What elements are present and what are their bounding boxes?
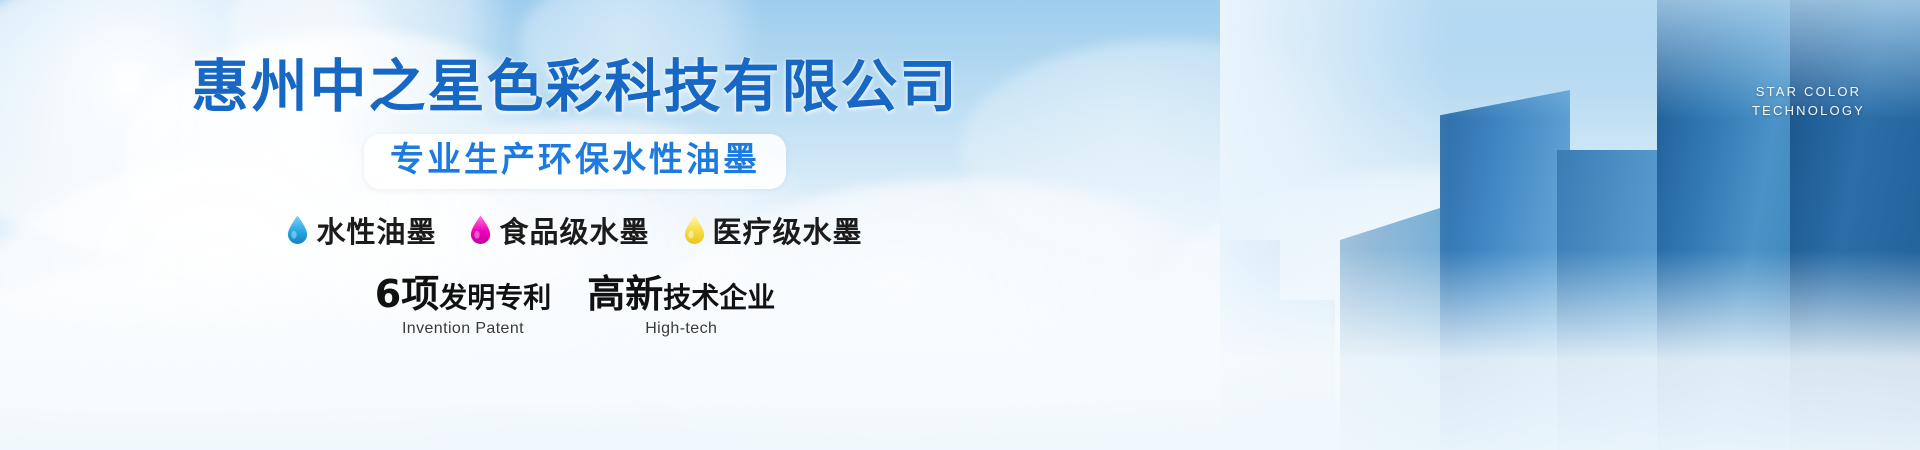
badge-sub: 技术企业 [663,281,775,314]
credential-badges: 6项发明专利 Invention Patent 高新技术企业 High-tech [375,275,776,338]
water-drop-icon [287,215,308,244]
badge-english-label: Invention Patent [375,320,551,338]
water-drop-icon [470,215,491,244]
company-name-headline: 惠州中之星色彩科技有限公司 [192,58,959,118]
watermark-line-2: TECHNOLOGY [1752,101,1865,120]
badge-high-tech: 高新技术企业 High-tech [587,275,775,338]
water-drop-icon [684,215,705,244]
subtitle-pill: 专业生产环保水性油墨 [364,134,786,189]
feature-item: 医疗级水墨 [684,209,863,251]
badge-highlight: 6项 [375,272,439,316]
feature-label: 食品级水墨 [499,209,649,251]
product-feature-list: 水性油墨 食品级水墨 [287,209,862,251]
banner-content: 惠州中之星色彩科技有限公司 专业生产环保水性油墨 水性油墨 [0,0,1150,450]
badge-english-label: High-tech [587,320,775,338]
feature-label: 医疗级水墨 [713,209,863,251]
badge-invention-patent: 6项发明专利 Invention Patent [375,275,551,338]
watermark-line-1: STAR COLOR [1752,82,1865,101]
star-color-technology-watermark: STAR COLOR TECHNOLOGY [1752,82,1865,120]
badge-main-text: 6项发明专利 [375,275,551,313]
badge-main-text: 高新技术企业 [587,275,775,313]
feature-label: 水性油墨 [316,209,436,251]
badge-sub: 发明专利 [439,281,551,314]
feature-item: 水性油墨 [287,209,436,251]
promotional-banner: Star Color STAR COLOR TECHNOLOGY 惠州中之星色彩… [0,0,1920,450]
feature-item: 食品级水墨 [470,209,649,251]
badge-highlight: 高新 [587,272,663,316]
subtitle-text: 专业生产环保水性油墨 [390,141,760,180]
